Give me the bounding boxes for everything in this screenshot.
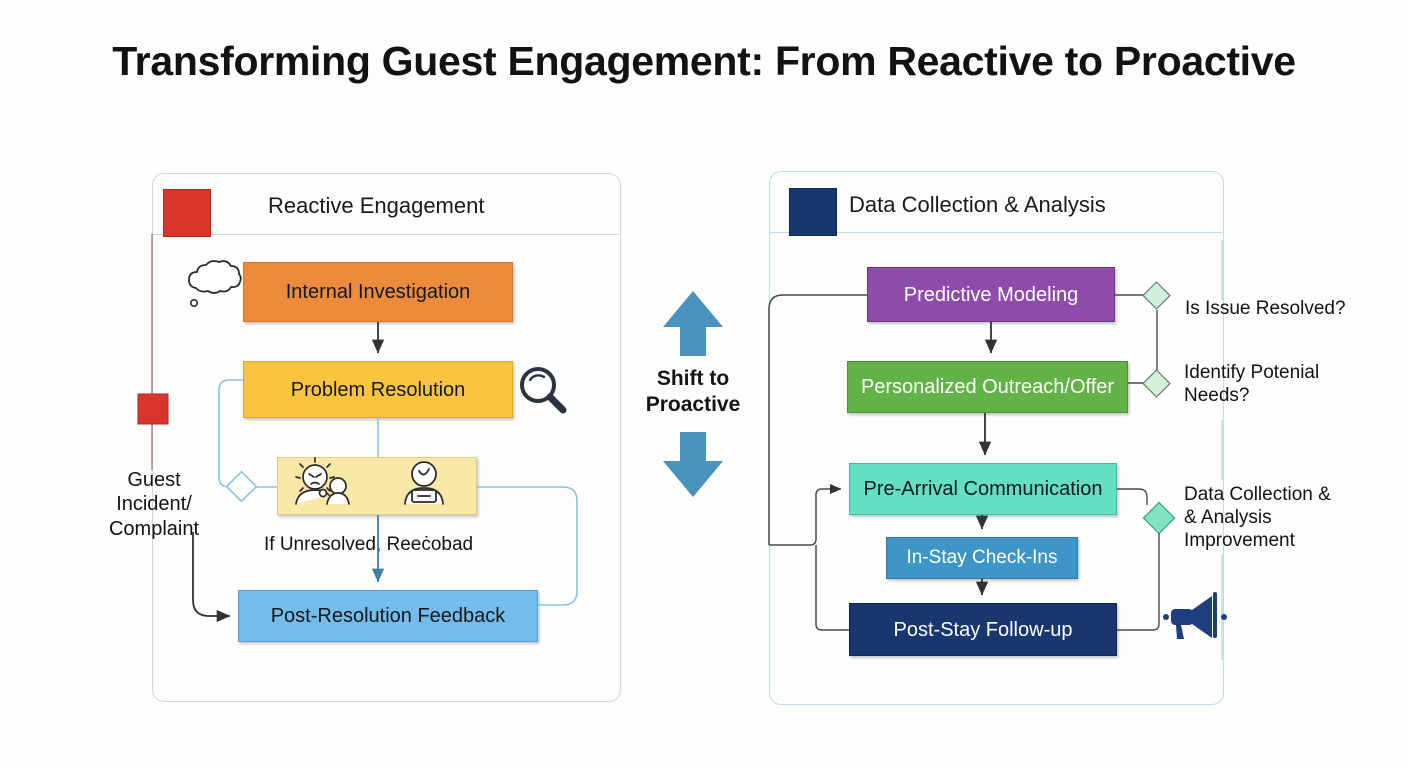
box-internal-investigation[interactable]: Internal Investigation [243,262,513,322]
label-if-unresolved: If Unresolved, Reeċobad [264,533,473,556]
box-pre-arrival-communication[interactable]: Pre-Arrival Communication [849,463,1117,515]
shift-down-arrow-icon [663,432,723,497]
label-shift-line2: Proactive [637,392,749,418]
label-identify-line1: Identify Potenial [1184,361,1359,384]
box-pre-arrival-communication-label: Pre-Arrival Communication [864,478,1103,500]
page-title: Transforming Guest Engagement: From Reac… [0,38,1408,85]
box-internal-investigation-label: Internal Investigation [286,281,471,303]
diagram-canvas: Transforming Guest Engagement: From Reac… [0,0,1408,768]
box-problem-resolution-label: Problem Resolution [291,379,466,401]
box-predictive-modeling[interactable]: Predictive Modeling [867,267,1115,322]
box-post-resolution-feedback[interactable]: Post-Resolution Feedback [238,590,538,642]
label-data-collection-improvement: Data Collection & & Analysis Improvement [1184,483,1364,553]
label-dcai-line2: & Analysis [1184,506,1364,529]
label-guest-incident-line3: Complaint [99,517,209,541]
red-marker-icon [163,189,211,237]
box-post-resolution-feedback-label: Post-Resolution Feedback [271,605,506,627]
navy-marker-icon [789,188,837,236]
box-in-stay-check-ins[interactable]: In-Stay Check-Ins [886,537,1078,579]
panel-left-header-divider [152,234,619,235]
box-problem-resolution[interactable]: Problem Resolution [243,361,513,418]
shift-up-arrow-icon [663,291,723,356]
box-guest-agent-icons[interactable] [277,457,477,515]
box-predictive-modeling-label: Predictive Modeling [904,284,1079,306]
label-identify-potential-needs: Identify Potenial Needs? [1184,361,1359,407]
box-post-stay-follow-up[interactable]: Post-Stay Follow-up [849,603,1117,656]
label-dcai-line3: Improvement [1184,529,1364,552]
box-in-stay-check-ins-label: In-Stay Check-Ins [907,548,1058,569]
label-shift-to-proactive: Shift to Proactive [637,366,749,417]
label-guest-incident: Guest Incident/ Complaint [99,468,209,541]
panel-left-title: Reactive Engagement [268,193,484,219]
label-is-issue-resolved: Is Issue Resolved? [1185,297,1346,320]
box-personalized-outreach[interactable]: Personalized Outreach/Offer [847,361,1128,413]
box-post-stay-follow-up-label: Post-Stay Follow-up [894,619,1073,641]
box-personalized-outreach-label: Personalized Outreach/Offer [861,376,1114,398]
label-dcai-line1: Data Collection & [1184,483,1364,506]
label-identify-line2: Needs? [1184,384,1359,407]
panel-right-title: Data Collection & Analysis [849,192,1106,218]
label-shift-line1: Shift to [637,366,749,392]
label-guest-incident-line2: Incident/ [99,492,209,516]
label-guest-incident-line1: Guest [99,468,209,492]
